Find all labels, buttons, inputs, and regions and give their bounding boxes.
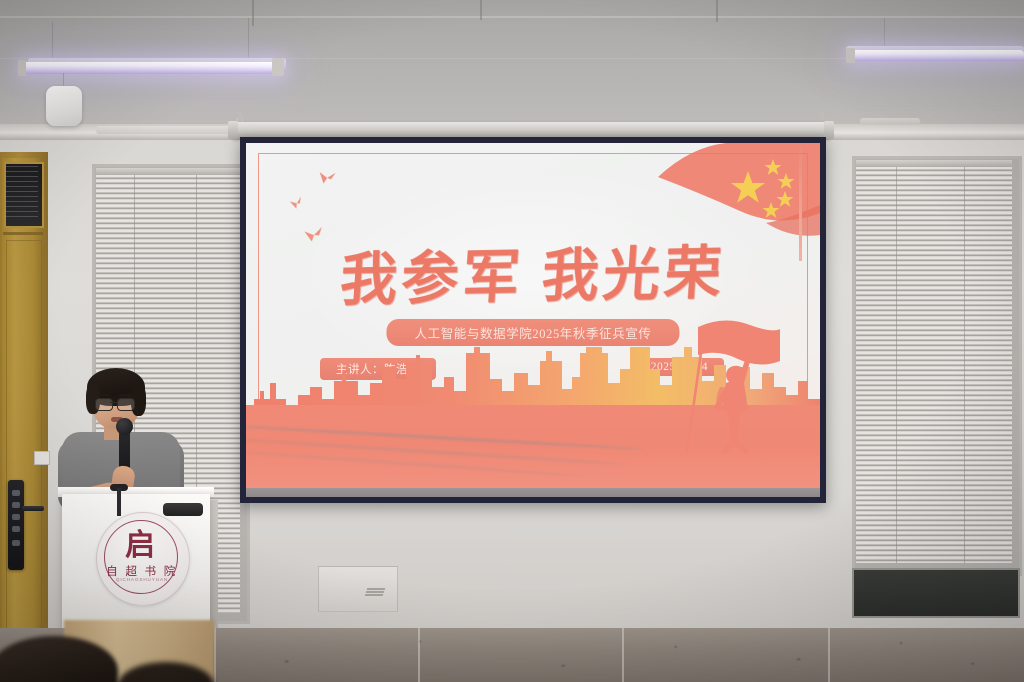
- baseboard-seam: [828, 628, 830, 682]
- window-glass-lower: [852, 568, 1020, 618]
- emblem-seal-mark: 启: [118, 527, 162, 565]
- ceiling-seam: [0, 16, 1024, 18]
- dove-icon: [317, 170, 339, 188]
- presentation-slide: 我参军 我光荣 人工智能与数据学院2025年秋季征兵宣传 主讲人：陈浩华 202…: [246, 143, 820, 497]
- wifi-access-point: [46, 86, 82, 126]
- lower-tube-housing: [860, 118, 920, 125]
- baseboard-seam: [622, 628, 624, 682]
- light-switch[interactable]: [34, 451, 50, 465]
- baseboard-seam: [214, 628, 216, 682]
- door-panel: [6, 240, 42, 632]
- soldier-silhouette: [676, 313, 794, 455]
- slide-title: 我参军 我光荣: [246, 225, 820, 318]
- blind-headrail-right: [856, 160, 1012, 167]
- blind-cord[interactable]: [896, 167, 897, 563]
- emblem-pinyin: QICHAOSHUYUAN: [96, 577, 188, 582]
- ceiling-grid-line: [252, 0, 254, 26]
- lecture-hall-photo: 我参军 我光荣 人工智能与数据学院2025年秋季征兵宣传 主讲人：陈浩华 202…: [0, 0, 1024, 682]
- keypad-key[interactable]: [12, 490, 20, 496]
- door-transom-louvers: [6, 166, 38, 220]
- light-suspension-rod: [248, 18, 249, 62]
- panel-vent-icon: [365, 588, 386, 596]
- projection-screen-housing: [232, 122, 830, 138]
- tube-light-cap: [18, 60, 26, 76]
- keypad-key[interactable]: [12, 502, 20, 508]
- slide-subtitle: 人工智能与数据学院2025年秋季征兵宣传: [386, 319, 679, 346]
- mic-stand[interactable]: [117, 488, 121, 516]
- baseboard-seam: [418, 628, 420, 682]
- ceiling-grid-line: [716, 0, 718, 22]
- ceiling-grid-line: [480, 0, 482, 20]
- keypad-key[interactable]: [12, 514, 20, 520]
- window-blinds-right[interactable]: [856, 167, 1012, 563]
- ceiling-tube-light-right[interactable]: [850, 50, 1024, 61]
- blind-headrail-left: [96, 168, 240, 175]
- podium-device[interactable]: [163, 503, 203, 516]
- tube-light-cap: [272, 58, 284, 76]
- slide-bottom-band: [246, 488, 820, 497]
- presenter-glasses: [117, 398, 135, 411]
- wall-access-panel[interactable]: [318, 566, 398, 612]
- blind-cord[interactable]: [964, 167, 965, 563]
- door-handle[interactable]: [22, 506, 44, 511]
- door-rail: [3, 232, 43, 235]
- tube-light-cap: [846, 48, 855, 63]
- presenter-eyebrow: [119, 394, 132, 396]
- microphone-head[interactable]: [116, 418, 133, 435]
- presenter-eyebrow: [97, 394, 110, 396]
- keypad-key[interactable]: [12, 526, 20, 532]
- screen-housing-cap: [228, 121, 238, 139]
- projection-screen[interactable]: 我参军 我光荣 人工智能与数据学院2025年秋季征兵宣传 主讲人：陈浩华 202…: [246, 143, 820, 497]
- presenter-glasses: [95, 398, 113, 411]
- keypad-key[interactable]: [12, 540, 20, 546]
- ceiling-tube-light-left[interactable]: [22, 62, 282, 74]
- light-suspension-rod: [884, 18, 885, 48]
- presenter-glasses-bridge: [110, 402, 118, 403]
